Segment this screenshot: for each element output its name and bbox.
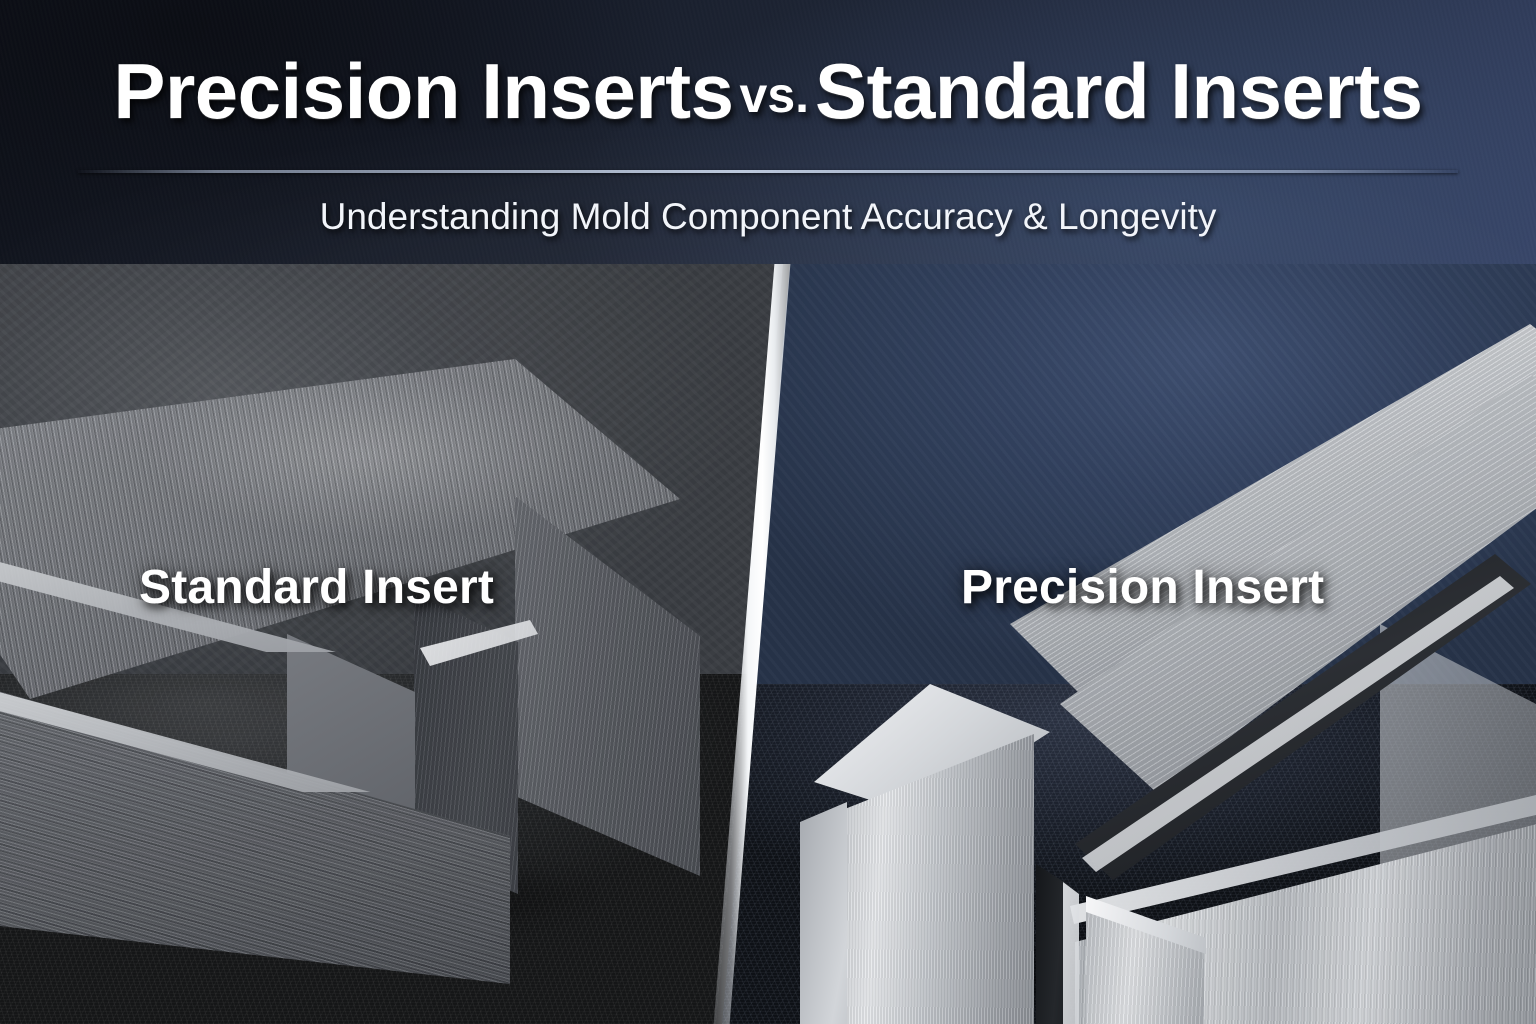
title-part-standard: Standard Inserts [815, 47, 1423, 135]
page-title: Precision Insertsvs.Standard Inserts [0, 52, 1536, 130]
title-divider-rule [78, 170, 1458, 173]
standard-insert-label: Standard Insert [139, 560, 494, 615]
title-vs: vs. [734, 67, 816, 123]
page-subtitle: Understanding Mold Component Accuracy & … [0, 196, 1536, 238]
precision-insert-label: Precision Insert [961, 560, 1324, 615]
title-part-precision: Precision Inserts [113, 47, 733, 135]
header-banner: Precision Insertsvs.Standard Inserts Und… [0, 0, 1536, 264]
comparison-body: Standard Insert Precision Insert [0, 264, 1536, 1024]
comparison-infographic: Precision Insertsvs.Standard Inserts Und… [0, 0, 1536, 1024]
standard-insert-panel [0, 264, 790, 1024]
